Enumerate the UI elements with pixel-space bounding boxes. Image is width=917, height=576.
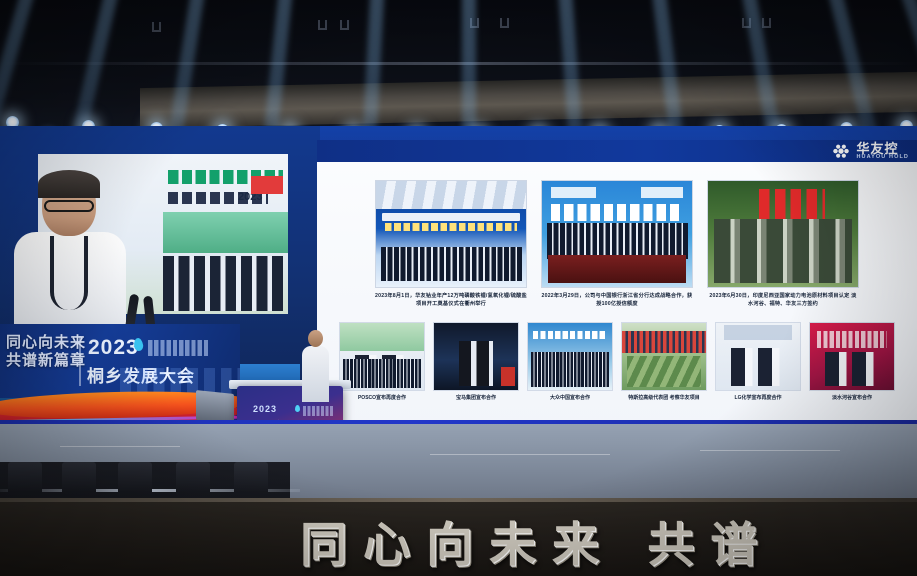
slide-content: 2023年8月1日，华友钴业年产12万吨磷酸铁锂/氢氧化锂/硫酸盐项目开工奠基仪… xyxy=(317,162,917,429)
slide-card-caption: POSCO宣布再度合作 xyxy=(339,395,425,403)
speaker-hair xyxy=(38,170,100,198)
attendee-body xyxy=(302,346,329,402)
slide-korean-mark xyxy=(251,176,284,194)
banner-year: 2023 xyxy=(88,336,139,360)
brand-wordmark: 华友控 HUAYOU HOLD xyxy=(856,142,909,161)
slide-card: 2023年6月30日，印度尼西亚国家动力电池原材料项目认定 淡水河谷、福特、华友… xyxy=(707,180,859,309)
stage-attendee xyxy=(300,330,330,400)
slide-card-caption: LG化学宣布再度合作 xyxy=(715,395,801,403)
signage-top-edge xyxy=(0,498,917,502)
rig-hook-icon xyxy=(318,20,327,30)
bmw-signing-photo xyxy=(433,322,519,391)
slide-top-row: 2023年8月1日，华友钴业年产12万吨磷酸铁锂/氢氧化锂/硫酸盐项目开工奠基仪… xyxy=(339,180,895,309)
slide-card: 2022年3月29日，公司与中国银行浙江省分行达成战略合作，获授100亿授信额度 xyxy=(541,180,693,309)
banner-slogan-line1: 同心向未来 xyxy=(6,334,86,352)
signage-text: 同心向未来 共谱 xyxy=(300,506,773,575)
huayou-brand: 华友控 HUAYOU HOLD xyxy=(831,142,909,161)
lanyard xyxy=(50,236,88,310)
brand-name-cn: 华友控 xyxy=(856,142,909,155)
slide-card-caption: 淡水河谷宣布合作 xyxy=(809,395,895,403)
main-led-screen: 华友控 HUAYOU HOLD 2023年8月1日，华友钴业年产12万吨磷酸铁锂… xyxy=(317,140,917,429)
banner-divider xyxy=(79,336,81,386)
slide-card-caption: 2022年3月29日，公司与中国银行浙江省分行达成战略合作，获授100亿授信额度 xyxy=(541,293,693,309)
truss-slab xyxy=(140,72,917,128)
attendee-head xyxy=(308,330,323,347)
audience-seat xyxy=(8,462,42,492)
rig-hook-icon xyxy=(470,18,479,28)
slide-panel-photo xyxy=(163,256,283,310)
venue-ceiling xyxy=(0,0,917,140)
slide-card: 大众中国宣布合作 xyxy=(527,322,613,403)
conference-stage-photo: 2023 同心向未来 共谱新篇章 同心向未来 共谱新篇章 2023 桐乡发展大会 xyxy=(0,0,917,576)
slide-card-caption: 特斯拉高级代表团 考察华友项目 xyxy=(621,395,707,403)
audience-seat xyxy=(62,462,96,492)
eyeglasses-icon xyxy=(44,200,94,212)
slide-card: 淡水河谷宣布合作 xyxy=(809,322,895,403)
slide-card-caption: 宝马集团宣布合作 xyxy=(433,395,519,403)
slide-landscape-image xyxy=(163,212,288,254)
venue-signage: 同心向未来 共谱 xyxy=(0,498,917,576)
floor-scuff xyxy=(430,454,610,455)
indonesia-officials-photo xyxy=(707,180,859,288)
stage-monitor xyxy=(196,390,234,424)
brand-name-en: HUAYOU HOLD xyxy=(856,155,909,161)
podium-year: 2023 xyxy=(253,404,277,414)
water-drop-icon xyxy=(295,405,300,412)
water-drop-icon xyxy=(133,337,144,351)
volkswagen-signing-photo xyxy=(527,322,613,391)
floor-scuff xyxy=(60,446,180,447)
slide-card: 特斯拉高级代表团 考察华友项目 xyxy=(621,322,707,403)
bank-signing-photo xyxy=(541,180,693,288)
slide-card: LG化学宣布再度合作 xyxy=(715,322,801,403)
rig-hook-icon xyxy=(742,18,751,28)
rig-hook-icon xyxy=(340,20,349,30)
stage-left-banner: 同心向未来 共谱新篇章 2023 桐乡发展大会 xyxy=(0,324,240,398)
slide-card-caption: 2023年8月1日，华友钴业年产12万吨磷酸铁锂/氢氧化锂/硫酸盐项目开工奠基仪… xyxy=(375,293,527,309)
audience-seat xyxy=(118,462,152,492)
slide-card: POSCO宣布再度合作 xyxy=(339,322,425,403)
banner-slogan-line2: 共谱新篇章 xyxy=(6,352,86,370)
lg-chem-signing-photo xyxy=(715,322,801,391)
ceremony-stage-photo xyxy=(375,180,527,288)
audience-seat xyxy=(234,462,268,492)
slide-card: 2023年8月1日，华友钴业年产12万吨磷酸铁锂/氢氧化锂/硫酸盐项目开工奠基仪… xyxy=(375,180,527,309)
truss-bar xyxy=(0,62,917,65)
slide-card-caption: 大众中国宣布合作 xyxy=(527,395,613,403)
slide-header-bar: 华友控 HUAYOU HOLD xyxy=(317,140,917,162)
huayou-flower-logo-icon xyxy=(831,143,851,160)
rig-hook-icon xyxy=(152,22,161,32)
banner-slogan: 同心向未来 共谱新篇章 xyxy=(6,334,86,371)
podium-english-text xyxy=(303,406,333,416)
rig-hook-icon xyxy=(500,18,509,28)
posco-signing-photo xyxy=(339,322,425,391)
tesla-delegation-photo xyxy=(621,322,707,391)
slide-card-caption: 2023年6月30日，印度尼西亚国家动力电池原材料项目认定 淡水河谷、福特、华友… xyxy=(707,293,859,309)
rig-hook-icon xyxy=(762,18,771,28)
banner-english-text xyxy=(148,340,210,356)
floor-scuff xyxy=(700,450,840,451)
audience-seat xyxy=(176,462,210,492)
vale-signing-photo xyxy=(809,322,895,391)
slide-card: 宝马集团宣布合作 xyxy=(433,322,519,403)
slide-bottom-row: POSCO宣布再度合作 宝马集团宣布合作 xyxy=(339,322,895,403)
